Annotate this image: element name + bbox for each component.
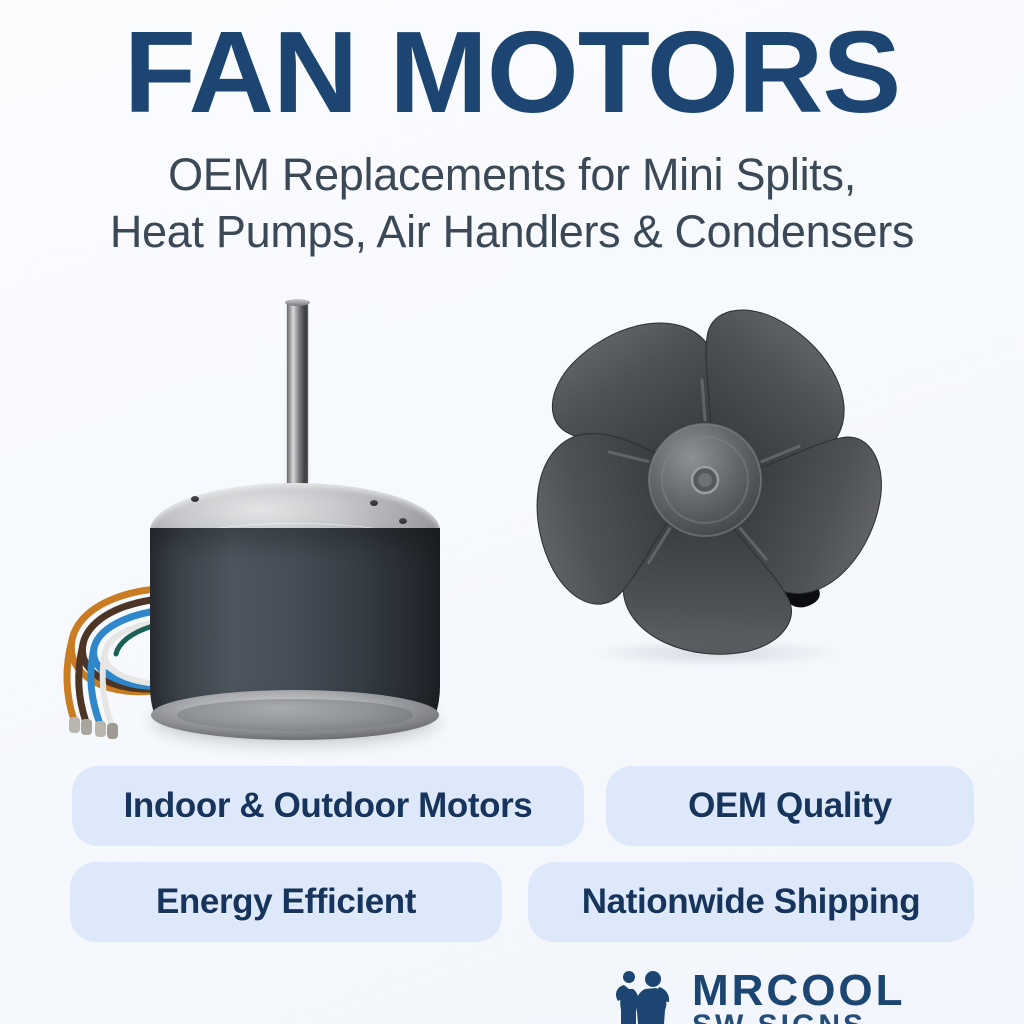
two-figures-icon — [612, 968, 686, 1024]
fan-hub — [649, 424, 761, 536]
page-subtitle: OEM Replacements for Mini Splits, Heat P… — [0, 146, 1024, 260]
motor-base-inner — [177, 699, 413, 731]
brand-wordmark: MRCOOL — [692, 971, 906, 1011]
brand-tagline: SW SIGNS — [692, 1011, 906, 1024]
product-stage — [0, 268, 1024, 756]
fan-drop-shadow — [590, 640, 840, 666]
feature-pill-nationwide-shipping[interactable]: Nationwide Shipping — [528, 862, 974, 942]
feature-pill-oem-quality[interactable]: OEM Quality — [606, 766, 974, 846]
feature-pill-indoor-outdoor-motors[interactable]: Indoor & Outdoor Motors — [72, 766, 584, 846]
motor-bolt — [370, 500, 378, 506]
subtitle-line-2: Heat Pumps, Air Handlers & Condensers — [0, 203, 1024, 260]
motor-base-ring — [151, 690, 439, 740]
promotional-poster: FAN MOTORS OEM Replacements for Mini Spl… — [0, 0, 1024, 1024]
subtitle-line-1: OEM Replacements for Mini Splits, — [0, 146, 1024, 203]
condenser-fan-motor-image — [150, 278, 440, 738]
brand-wordmark-block: MRCOOL SW SIGNS — [692, 968, 906, 1024]
motor-bolt — [191, 496, 199, 502]
five-blade-fan-image — [490, 268, 920, 688]
motor-bolt — [399, 518, 407, 524]
feature-pill-energy-efficient[interactable]: Energy Efficient — [70, 862, 502, 942]
page-title: FAN MOTORS — [0, 14, 1024, 130]
brand-logo[interactable]: MRCOOL SW SIGNS — [612, 968, 972, 1024]
feature-pill-group: Indoor & Outdoor Motors OEM Quality Ener… — [0, 766, 1024, 946]
